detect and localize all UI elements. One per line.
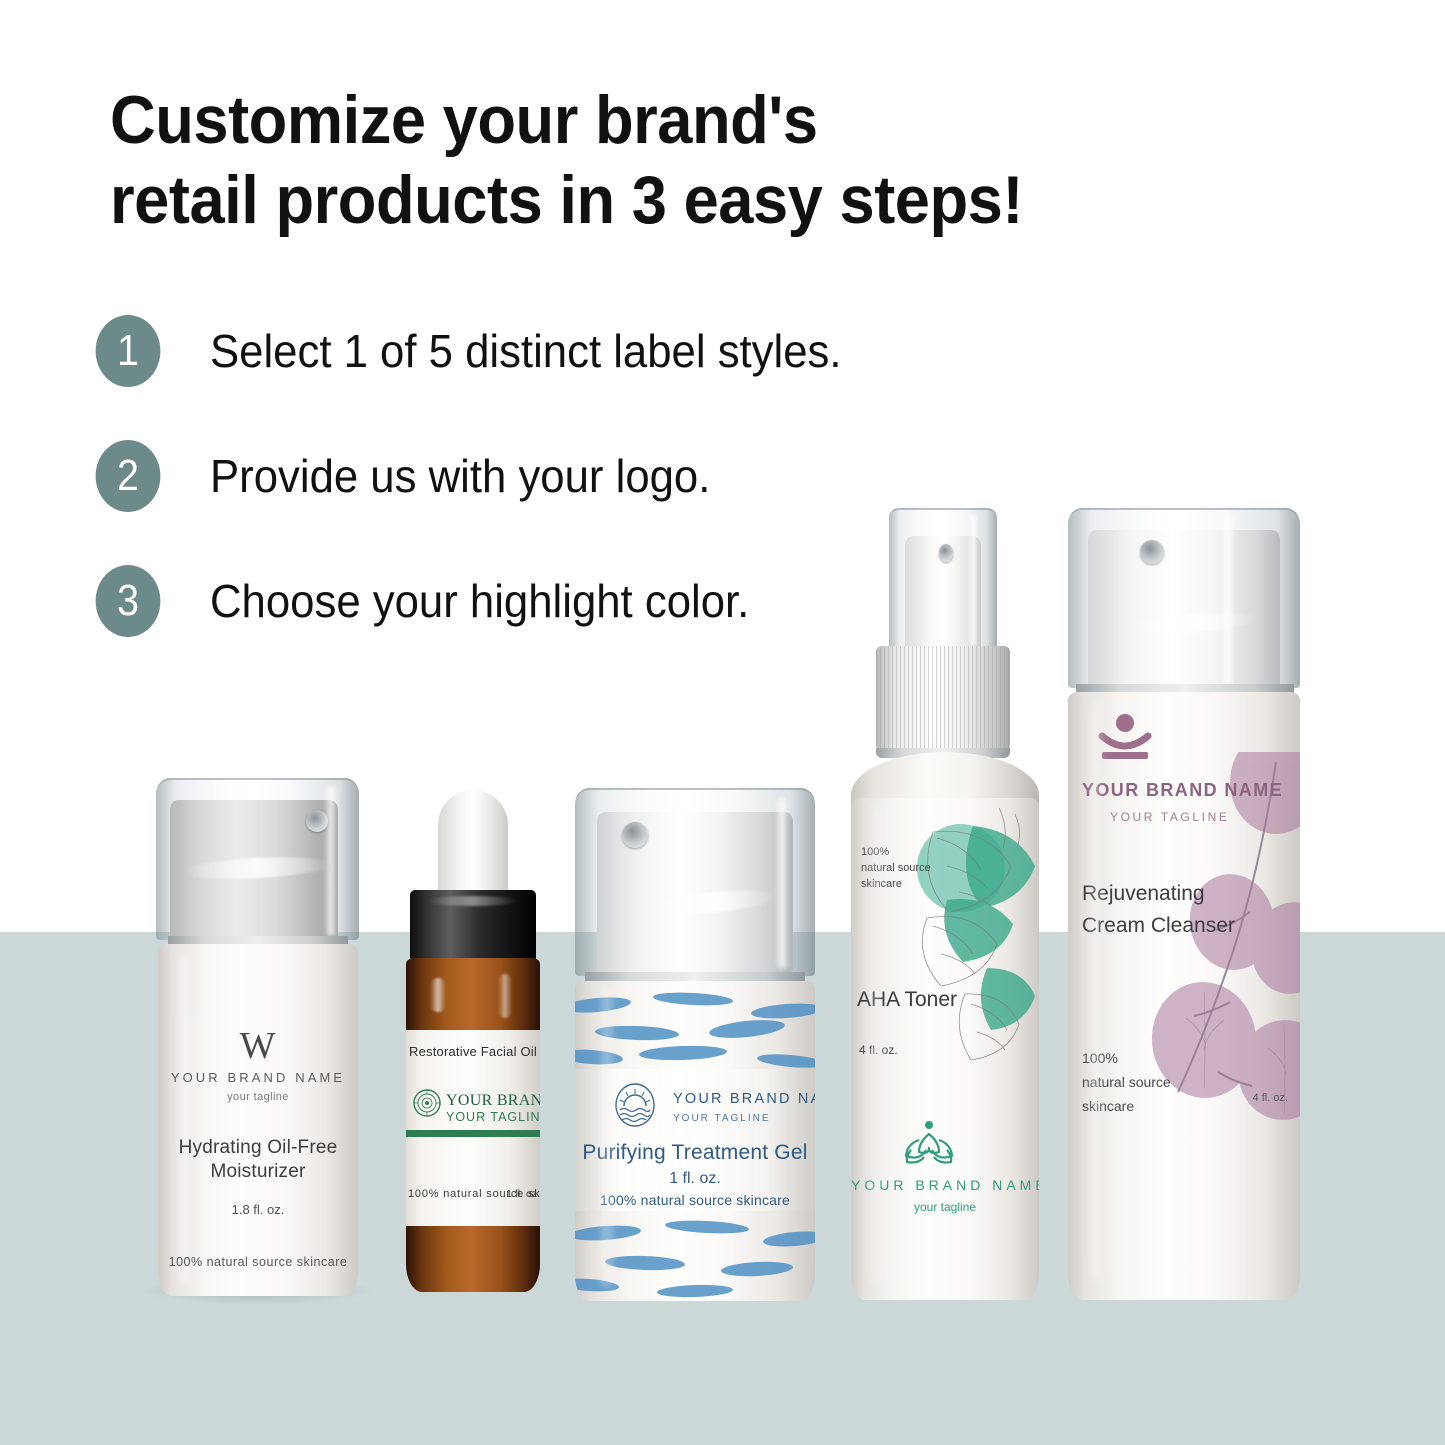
- glass-gloss-right: [498, 974, 512, 1018]
- product-clinician[interactable]: Restorative Facial Oil YOUR BRAND NAME: [388, 790, 558, 1298]
- pump-nozzle-icon: [622, 822, 648, 848]
- product-lineup: W YOUR BRAND NAME your tagline Hydrating…: [0, 0, 1445, 1445]
- body-gloss: [1088, 700, 1104, 1280]
- brand-tagline: YOUR TAGLINE: [1110, 810, 1229, 824]
- pump-nozzle-icon: [1140, 540, 1164, 564]
- product-name-line-2: Moisturizer: [158, 1160, 358, 1185]
- brand-tagline: YOUR TAGLINE: [446, 1110, 540, 1124]
- bottle-body: YOUR BRAND NAME YOUR TAGLINE Purifying T…: [575, 981, 815, 1301]
- product-name-line-2: Cream Cleanser: [1082, 914, 1235, 938]
- brand-name: YOUR BRAND NAME: [673, 1091, 815, 1107]
- glass-gloss-left: [430, 978, 446, 1012]
- monstera-leaf-art: [903, 808, 1039, 1098]
- body-gloss: [599, 987, 615, 1287]
- body-gloss: [869, 806, 883, 1286]
- product-name-line-1: Hydrating Oil-Free: [158, 1136, 358, 1161]
- product-minimalist[interactable]: W YOUR BRAND NAME your tagline Hydrating…: [150, 778, 365, 1298]
- body-gloss: [176, 954, 192, 1284]
- cap-edge-gloss: [1220, 516, 1236, 684]
- spray-overcap: [889, 508, 997, 650]
- product-name: Restorative Facial Oil: [406, 1044, 540, 1061]
- brand-name: YOUR BRAND NAME: [446, 1092, 540, 1110]
- brand-name: YOUR BRAND NAME: [158, 1070, 358, 1087]
- brand-name: YOUR BRAND NAME: [1082, 780, 1283, 801]
- promo-graphic: Customize your brand's retail products i…: [0, 0, 1445, 1445]
- overcap: [156, 778, 359, 940]
- dropper-cap-gloss: [428, 896, 518, 906]
- bottle-label: Restorative Facial Oil YOUR BRAND NAME: [406, 1030, 540, 1226]
- glass-bottle-body: Restorative Facial Oil YOUR BRAND NAME: [406, 958, 540, 1292]
- product-botanical[interactable]: 100% natural source skincare AHA Toner 4…: [845, 508, 1045, 1298]
- product-marina-bay[interactable]: YOUR BRAND NAME YOUR TAGLINE Purifying T…: [567, 788, 822, 1298]
- accent-bar: [406, 1130, 540, 1137]
- brand-tagline: YOUR TAGLINE: [673, 1113, 771, 1124]
- product-claim: 100% natural source skincare: [158, 1254, 358, 1270]
- product-size: 1.8 fl. oz.: [158, 1202, 358, 1219]
- spray-collar: [876, 646, 1010, 754]
- product-zen-zone[interactable]: YOUR BRAND NAME YOUR TAGLINE Rejuvenatin…: [1062, 508, 1312, 1298]
- cap-edge-gloss: [324, 786, 338, 936]
- pump-head: [1088, 530, 1280, 686]
- dropper-bulb: [438, 790, 508, 898]
- product-size: 4 fl. oz.: [1253, 1092, 1288, 1104]
- cap-edge-gloss: [775, 798, 789, 968]
- seal-icon: [412, 1088, 442, 1118]
- lotus-icon: [903, 1120, 955, 1166]
- spray-nozzle-icon: [939, 544, 953, 562]
- brand-monogram: W: [158, 1022, 358, 1071]
- product-size: 1 fl. oz.: [506, 1188, 540, 1200]
- sun-waves-icon: [613, 1083, 657, 1127]
- bottle-body: YOUR BRAND NAME YOUR TAGLINE Rejuvenatin…: [1068, 692, 1300, 1300]
- bottle-body: W YOUR BRAND NAME your tagline Hydrating…: [158, 944, 358, 1296]
- bottle-body: 100% natural source skincare AHA Toner 4…: [851, 798, 1039, 1300]
- overcap: [1068, 508, 1300, 688]
- brand-tagline: your tagline: [158, 1090, 358, 1104]
- overcap: [575, 788, 815, 976]
- cap-edge-gloss: [967, 514, 979, 646]
